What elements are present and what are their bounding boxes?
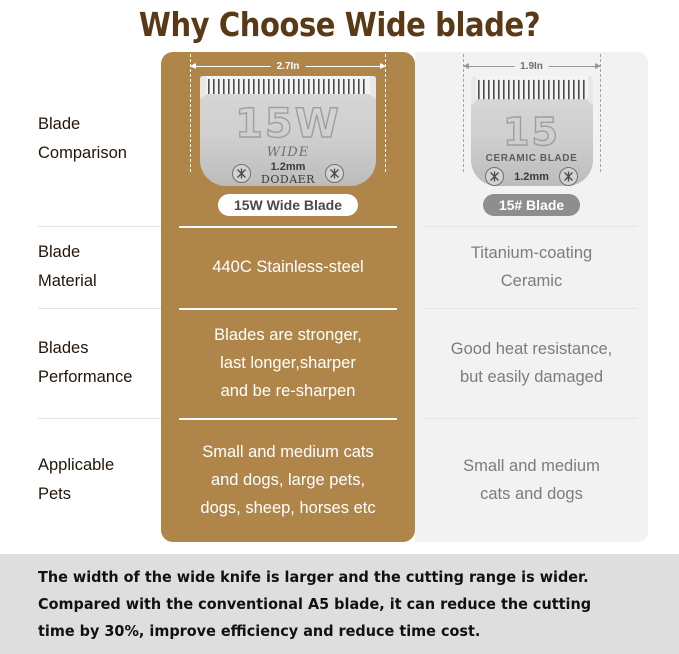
comparison-table: Blade Comparison Blade Material Blades P…: [0, 52, 679, 546]
row-label-line1: Blade: [38, 110, 127, 139]
dimension-extension-line: [600, 54, 601, 172]
standard-blade-body: 15 CERAMIC BLADE 1.2mm: [471, 76, 593, 186]
wide-blade-cell-performance: Blades are stronger, last longer,sharper…: [161, 308, 415, 418]
dimension-extension-line: [463, 54, 464, 172]
screw-icon: [232, 164, 251, 183]
wide-blade-graphic: 2.7In: [175, 52, 401, 226]
standard-blade-graphic: 1.9In: [429, 52, 634, 226]
wide-blade-pets-text: Small and medium cats and dogs, large pe…: [200, 438, 375, 522]
standard-blade-cell-performance: Good heat resistance, but easily damaged: [415, 308, 648, 418]
standard-blade-material-text: Titanium-coating Ceramic: [471, 239, 592, 295]
wide-blade-pill-label: 15W Wide Blade: [218, 194, 358, 216]
dimension-extension-line: [385, 54, 386, 172]
wide-blade-cell-comparison: 2.7In: [161, 52, 415, 226]
standard-blade-column: 1.9In: [415, 52, 648, 542]
standard-blade-pets-text: Small and medium cats and dogs: [463, 452, 600, 508]
screw-icon: [559, 167, 578, 186]
wide-blade-number: 15W: [235, 104, 341, 144]
dimension-extension-line: [190, 54, 191, 172]
wide-blade-cell-material: 440C Stainless-steel: [161, 226, 415, 308]
standard-blade-pill-label: 15# Blade: [483, 194, 580, 216]
blade-teeth-icon: [471, 76, 593, 107]
wide-blade-performance-text: Blades are stronger, last longer,sharper…: [214, 321, 362, 405]
row-label-column: Blade Comparison Blade Material Blades P…: [30, 52, 161, 542]
row-label-line2: Material: [38, 267, 97, 296]
footer-line-1: The width of the wide knife is larger an…: [38, 564, 591, 591]
standard-blade-performance-text: Good heat resistance, but easily damaged: [451, 335, 612, 391]
screw-icon: [325, 164, 344, 183]
row-label-applicable-pets: Applicable Pets: [30, 418, 161, 542]
footer-line-2: Compared with the conventional A5 blade,…: [38, 591, 591, 618]
footer-banner: The width of the wide knife is larger an…: [0, 554, 679, 654]
footer-line-3: time by 30%, improve efficiency and redu…: [38, 618, 591, 645]
blade-teeth-icon: [200, 76, 376, 100]
dimension-value: 2.7In: [271, 61, 306, 72]
wide-blade-dimension: 2.7In: [190, 58, 386, 74]
standard-blade-number: 15: [503, 113, 560, 151]
row-label-blade-comparison: Blade Comparison: [30, 52, 161, 226]
wide-blade-brand: DODAER: [261, 173, 315, 186]
standard-blade-thickness: 1.2mm: [514, 171, 549, 183]
row-label-line2: Pets: [38, 480, 114, 509]
standard-blade-cell-comparison: 1.9In: [415, 52, 648, 226]
row-label-line2: Comparison: [38, 139, 127, 168]
wide-blade-cell-pets: Small and medium cats and dogs, large pe…: [161, 418, 415, 542]
wide-blade-thickness: 1.2mm: [271, 161, 306, 173]
standard-blade-dimension: 1.9In: [463, 58, 601, 74]
standard-blade-cell-pets: Small and medium cats and dogs: [415, 418, 648, 542]
wide-blade-body: 15W WIDE 1.2mm DODAER: [200, 76, 376, 186]
row-label-line1: Applicable: [38, 451, 114, 480]
wide-blade-subtitle: WIDE: [267, 145, 309, 160]
row-label-line2: Performance: [38, 363, 132, 392]
wide-blade-material-text: 440C Stainless-steel: [212, 253, 363, 281]
page-title: Why Choose Wide blade?: [41, 0, 639, 48]
row-label-blade-material: Blade Material: [30, 226, 161, 308]
standard-blade-subtitle: CERAMIC BLADE: [486, 153, 578, 164]
dimension-value: 1.9In: [514, 61, 549, 72]
row-label-blades-performance: Blades Performance: [30, 308, 161, 418]
screw-icon: [485, 167, 504, 186]
standard-blade-cell-material: Titanium-coating Ceramic: [415, 226, 648, 308]
wide-blade-column: 2.7In: [161, 52, 415, 542]
row-label-line1: Blades: [38, 334, 132, 363]
footer-text: The width of the wide knife is larger an…: [38, 564, 591, 645]
row-label-line1: Blade: [38, 238, 97, 267]
